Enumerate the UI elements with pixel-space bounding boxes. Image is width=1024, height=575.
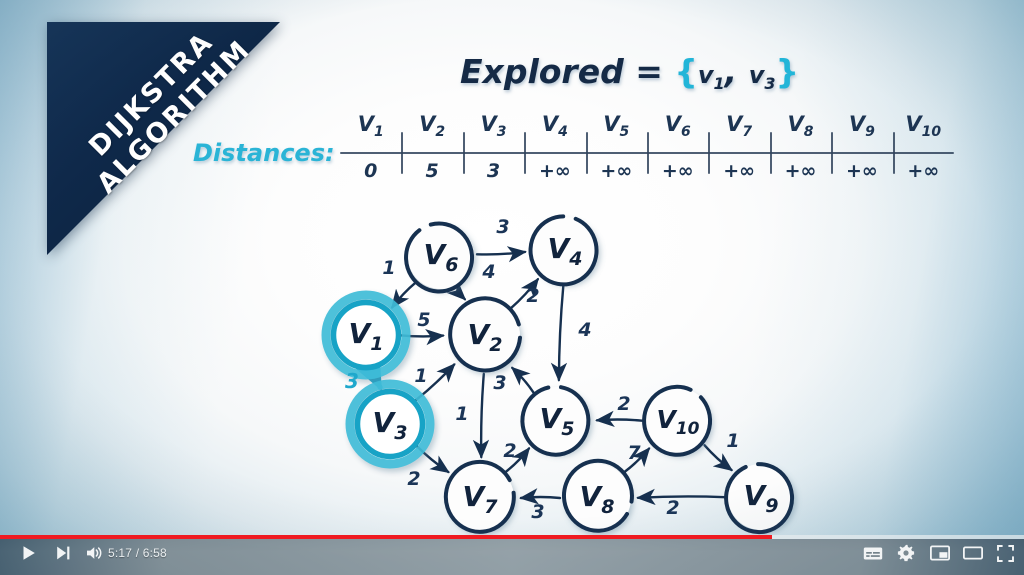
graph-edge-v7-to-v5 — [506, 449, 529, 472]
gear-icon — [897, 544, 915, 562]
fullscreen-button[interactable] — [989, 539, 1021, 567]
graph-edge-v2-to-v7 — [481, 374, 484, 457]
graph-edge-v10-to-v9 — [705, 445, 732, 470]
progress-played — [0, 535, 772, 539]
graph-svg — [0, 0, 1024, 575]
graph-edge-v6-to-v4 — [477, 252, 525, 255]
miniplayer-icon — [930, 545, 950, 561]
graph-diagram: 13453243121227123V6V4V1V2V3V5V10V7V8V9 — [0, 0, 1024, 575]
node-highlight-inner-v3 — [358, 392, 423, 457]
theater-mode-button[interactable] — [957, 539, 989, 567]
next-icon — [55, 545, 71, 561]
graph-edge-v4-to-v5 — [559, 286, 563, 380]
miniplayer-button[interactable] — [924, 539, 956, 567]
play-button[interactable] — [14, 539, 44, 567]
next-video-button[interactable] — [48, 539, 78, 567]
graph-edge-v8-to-v7 — [521, 497, 560, 498]
video-player-stage: DIJKSTRA ALGORITHM Explored = {v1, v3} D… — [0, 0, 1024, 575]
graph-edge-v5-to-v2 — [512, 368, 533, 393]
theater-icon — [963, 545, 983, 561]
play-icon — [21, 545, 37, 561]
graph-edge-v6-to-v2 — [458, 288, 465, 300]
volume-icon — [86, 545, 104, 561]
subtitles-icon — [863, 546, 883, 561]
settings-button[interactable] — [890, 539, 922, 567]
graph-edge-v9-to-v8 — [638, 496, 725, 497]
node-highlight-inner-v1 — [334, 303, 399, 368]
volume-button[interactable] — [80, 539, 110, 567]
fullscreen-icon — [997, 545, 1014, 562]
graph-edge-v8-to-v10 — [624, 449, 649, 473]
graph-edge-v10-to-v5 — [597, 419, 642, 420]
subtitles-button[interactable] — [857, 539, 889, 567]
graph-edge-v2-to-v4 — [511, 279, 538, 308]
time-display: 5:17 / 6:58 — [108, 546, 167, 560]
video-player-controls: 5:17 / 6:58 — [0, 535, 1024, 575]
